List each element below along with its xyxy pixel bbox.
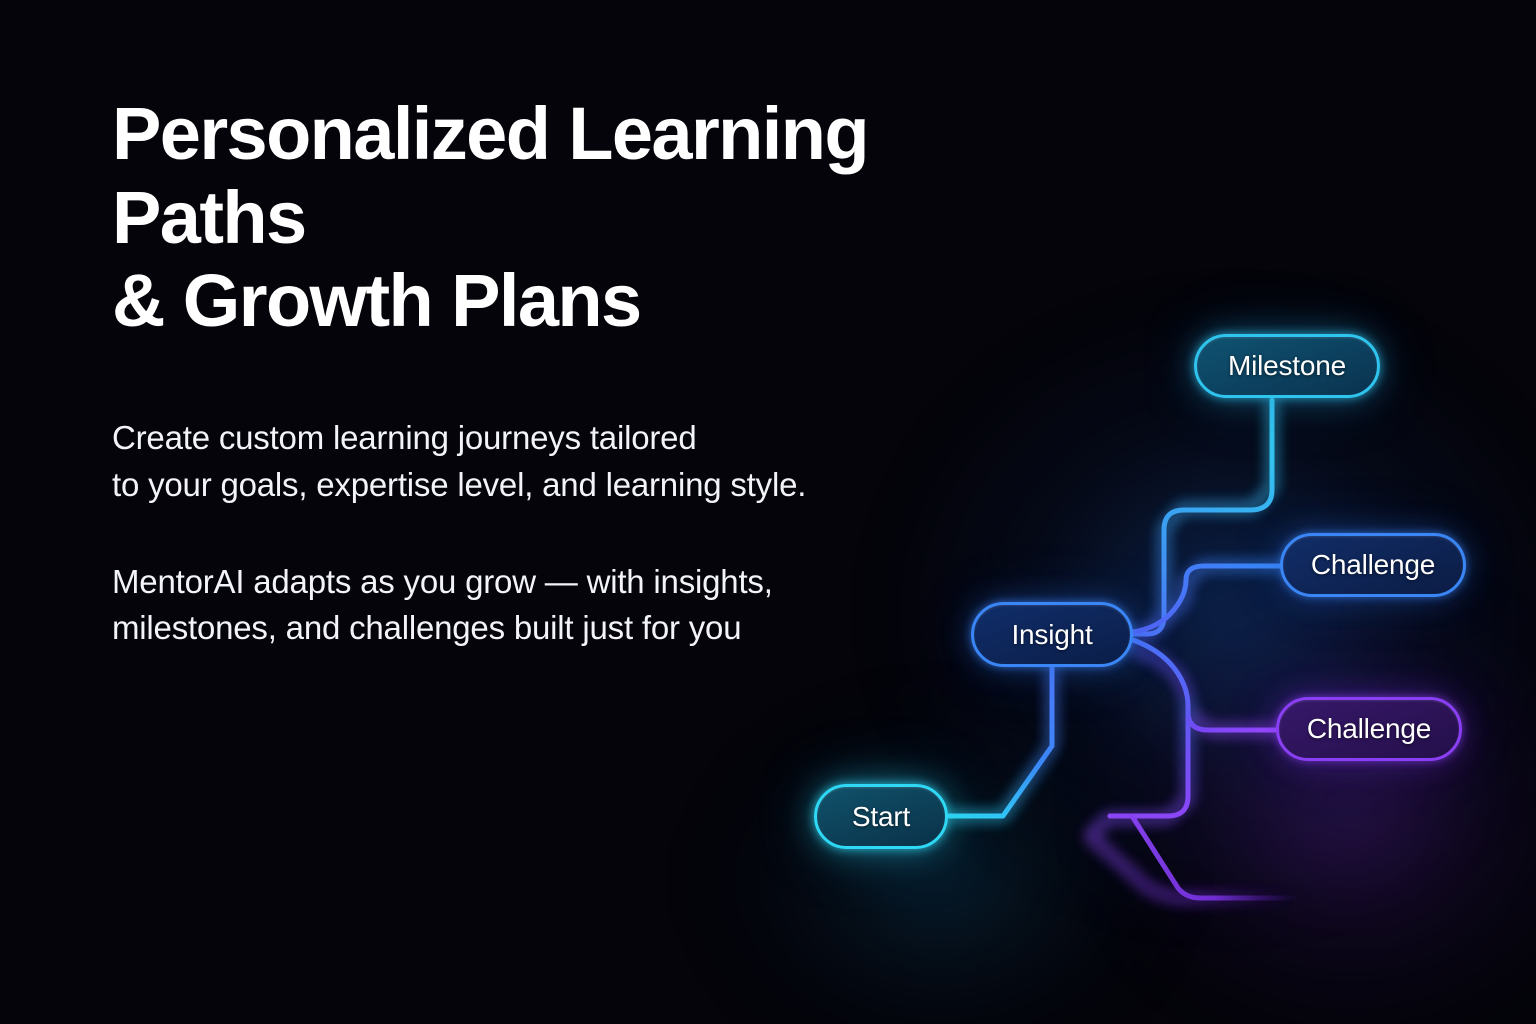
edge-insight-to-milestone bbox=[1133, 400, 1272, 634]
edge-insight-spine bbox=[1110, 640, 1188, 816]
body-paragraph-2: MentorAI adapts as you grow — with insig… bbox=[112, 559, 1062, 653]
copy-column: Personalized Learning Paths & Growth Pla… bbox=[112, 92, 1062, 652]
node-start-label: Start bbox=[852, 801, 910, 833]
page-title: Personalized Learning Paths & Growth Pla… bbox=[112, 92, 1062, 343]
edge-start-to-insight bbox=[948, 668, 1052, 816]
node-challenge-blue[interactable]: Challenge bbox=[1280, 533, 1466, 597]
slide-canvas: Personalized Learning Paths & Growth Pla… bbox=[0, 0, 1536, 1024]
edge-spine-to-challenge-purple bbox=[1188, 712, 1278, 730]
background-glow-cyan bbox=[700, 700, 1180, 1024]
node-milestone[interactable]: Milestone bbox=[1194, 334, 1380, 398]
node-insight[interactable]: Insight bbox=[971, 602, 1133, 667]
node-milestone-label: Milestone bbox=[1228, 350, 1346, 382]
node-start[interactable]: Start bbox=[814, 784, 948, 849]
background-glow-purple bbox=[1090, 580, 1536, 1024]
edge-continuation-tail bbox=[1110, 816, 1300, 898]
node-challenge-purple[interactable]: Challenge bbox=[1276, 697, 1462, 761]
edge-insight-to-challenge-blue bbox=[1133, 566, 1282, 632]
node-challenge-purple-label: Challenge bbox=[1307, 713, 1431, 745]
node-challenge-blue-label: Challenge bbox=[1311, 549, 1435, 581]
node-insight-label: Insight bbox=[1011, 619, 1092, 651]
body-paragraph-1: Create custom learning journeys tailored… bbox=[112, 415, 1062, 509]
